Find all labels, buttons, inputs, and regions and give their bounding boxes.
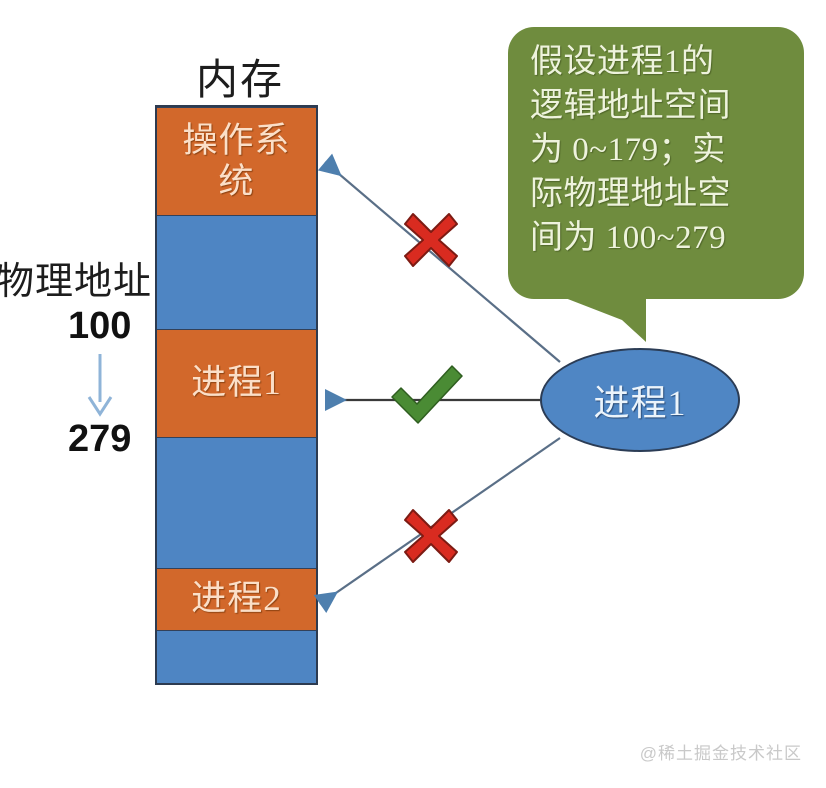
memory-bar: 操作系统 进程1 进程2	[155, 105, 318, 685]
memory-title: 内存	[155, 46, 325, 107]
green-check-icon	[388, 364, 466, 426]
memory-segment-process2-label: 进程2	[185, 579, 288, 619]
red-x-icon	[403, 212, 459, 268]
memory-segment-free-1	[157, 216, 316, 328]
physical-address-label: 物理地址	[0, 250, 152, 305]
memory-segment-process1[interactable]: 进程1	[157, 329, 316, 438]
red-x-icon	[403, 508, 459, 564]
memory-segment-os[interactable]: 操作系统	[157, 107, 316, 216]
watermark: @稀土掘金技术社区	[640, 739, 802, 764]
callout-bubble: 假设进程1的 逻辑地址空间 为 0~179；实 际物理地址空 间为 100~27…	[508, 27, 804, 299]
memory-segment-process1-label: 进程1	[185, 363, 288, 403]
process-node-label: 进程1	[593, 374, 686, 426]
diagram-canvas: 内存 操作系统 进程1 进程2 物理地址 100 279 假设进程1的 逻辑地址…	[0, 0, 826, 788]
memory-segment-free-2	[157, 438, 316, 568]
down-arrow-icon	[80, 352, 120, 418]
physical-address-end: 279	[68, 418, 131, 461]
memory-segment-process2[interactable]: 进程2	[157, 568, 316, 631]
callout-text: 假设进程1的 逻辑地址空间 为 0~179；实 际物理地址空 间为 100~27…	[530, 41, 788, 260]
memory-segment-free-3	[157, 631, 316, 683]
physical-address-start: 100	[68, 305, 131, 348]
process-node[interactable]: 进程1	[540, 348, 740, 452]
memory-segment-os-label: 操作系统	[176, 121, 296, 202]
